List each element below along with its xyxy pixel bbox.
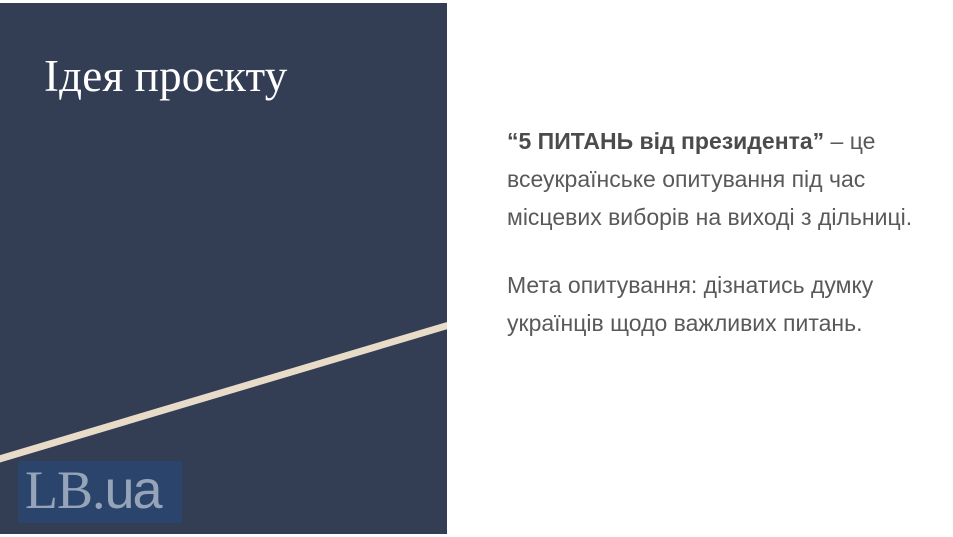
page-title: Ідея проєкту <box>44 51 287 103</box>
body-copy-block: “5 ПИТАНЬ від президента” – це всеукраїн… <box>507 122 917 342</box>
top-bleed-strip <box>0 0 447 3</box>
paragraph-2: Мета опитування: дізнатись думку українц… <box>507 266 917 342</box>
lb-ua-watermark-logo: LB.ua <box>18 461 182 523</box>
logo-text: LB.ua <box>25 463 161 517</box>
logo-sans-part: ua <box>105 461 161 520</box>
slide-root: Ідея проєкту LB.ua “5 ПИТАНЬ від президе… <box>0 0 953 537</box>
paragraph-2-rest: Мета опитування: дізнатись думку українц… <box>507 272 873 336</box>
paragraph-1: “5 ПИТАНЬ від президента” – це всеукраїн… <box>507 122 917 236</box>
right-content-panel: “5 ПИТАНЬ від президента” – це всеукраїн… <box>447 0 953 537</box>
left-navy-panel: Ідея проєкту LB.ua <box>0 3 447 534</box>
paragraph-1-lead: “5 ПИТАНЬ від президента” <box>507 128 824 154</box>
logo-serif-part: LB. <box>25 461 105 520</box>
